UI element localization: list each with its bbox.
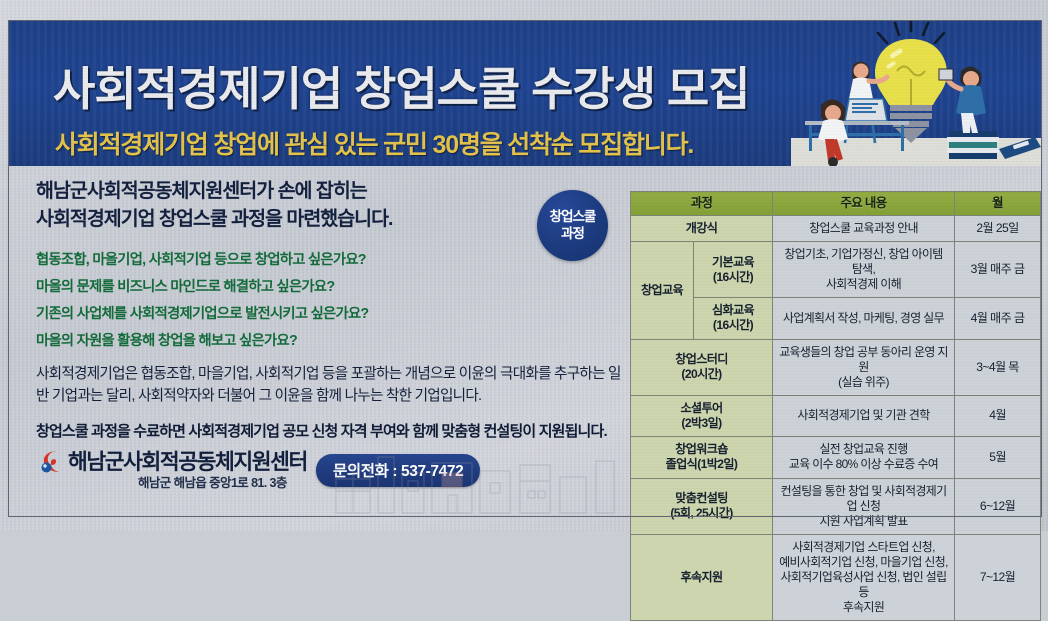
cell-month: 4월 매주 금: [955, 298, 1041, 339]
emphasis-text: 창업스쿨 과정을 수료하면 사회적경제기업 공모 신청 자격 부여와 함께 맞춤…: [36, 422, 626, 442]
cell-month: 3~4월 목: [955, 339, 1041, 395]
lightbulb-icon: [875, 39, 947, 143]
list-item: 마을의 자원을 활용해 창업을 해보고 싶은가요?: [36, 334, 626, 348]
col-header-course: 과정: [631, 192, 773, 216]
illustration-svg: [791, 21, 1041, 166]
person-on-books-icon: [939, 66, 986, 133]
cell-category: 개강식: [631, 216, 773, 242]
list-item: 기존의 사업체를 사회적경제기업으로 발전시키고 싶은가요?: [36, 307, 626, 321]
col-header-month: 월: [955, 192, 1041, 216]
table-body: 개강식창업스쿨 교육과정 안내2월 25일창업교육기본교육 (16시간)창업기초…: [631, 216, 1041, 621]
list-item: 마을의 문제를 비즈니스 마인드로 해결하고 싶은가요?: [36, 280, 626, 294]
organization-address: 해남군 해남읍 중앙1로 81. 3층: [138, 472, 287, 491]
book-stack-icon: [947, 131, 999, 159]
cell-description: 창업기초, 기업가정신, 창업 아이템 탐색, 사회적경제 이해: [773, 242, 955, 298]
question-list: 협동조합, 마을기업, 사회적기업 등으로 창업하고 싶은가요? 마을의 문제를…: [36, 253, 626, 348]
header-banner: 사회적경제기업 창업스쿨 수강생 모집 사회적경제기업 창업에 관심 있는 군민…: [9, 21, 1041, 166]
cell-description: 실전 창업교육 진행 교육 이수 80% 이상 수료증 수여: [773, 437, 955, 478]
poster-canvas: 사회적경제기업 창업스쿨 수강생 모집 사회적경제기업 창업에 관심 있는 군민…: [0, 0, 1048, 531]
lead-line-1: 해남군사회적공동체지원센터가 손에 잡히는: [36, 180, 367, 202]
table-header-row: 과정 주요 내용 월: [631, 192, 1041, 216]
cell-description: 사회적경제기업 및 기관 견학: [773, 395, 955, 436]
cell-description: 사업계획서 작성, 마케팅, 경영 실무: [773, 298, 955, 339]
cell-description: 창업스쿨 교육과정 안내: [773, 216, 955, 242]
cell-description: 교육생들의 창업 공부 동아리 운영 지원 (실습 위주): [773, 339, 955, 395]
cell-month: 6~12월: [955, 478, 1041, 534]
cell-subcategory: 기본교육 (16시간): [694, 242, 773, 298]
cell-subcategory: 심화교육 (16시간): [694, 298, 773, 339]
cell-category: 후속지원: [631, 534, 773, 620]
badge-line-1: 창업스쿨: [550, 209, 596, 225]
lead-line-2: 사회적경제기업 창업스쿨 과정을 마련했습니다.: [36, 208, 392, 230]
city-watermark-icon: [330, 453, 660, 515]
table-row: 창업워크숍 졸업식(1박2일)실전 창업교육 진행 교육 이수 80% 이상 수…: [631, 437, 1041, 478]
list-item: 협동조합, 마을기업, 사회적기업 등으로 창업하고 싶은가요?: [36, 253, 626, 267]
cell-month: 2월 25일: [955, 216, 1041, 242]
description-paragraph: 사회적경제기업은 협동조합, 마을기업, 사회적기업 등을 포괄하는 개념으로 …: [36, 364, 626, 408]
cell-description: 사회적경제기업 스타트업 신청, 예비사회적기업 신청, 마을기업 신청, 사회…: [773, 534, 955, 620]
page-subtitle: 사회적경제기업 창업에 관심 있는 군민 30명을 선착순 모집합니다.: [55, 125, 693, 161]
badge-line-2: 과정: [561, 226, 584, 242]
cell-category: 소셜투어 (2박3일): [631, 395, 773, 436]
table-row: 개강식창업스쿨 교육과정 안내2월 25일: [631, 216, 1041, 242]
course-badge: 창업스쿨 과정: [537, 190, 608, 261]
table-row: 소셜투어 (2박3일)사회적경제기업 및 기관 견학4월: [631, 395, 1041, 436]
cell-category: 창업교육: [631, 242, 694, 339]
laptop-icon: [841, 99, 891, 125]
organization-logo-icon: [38, 449, 64, 475]
curriculum-table-wrap: 과정 주요 내용 월 개강식창업스쿨 교육과정 안내2월 25일창업교육기본교육…: [630, 191, 1040, 621]
cell-category: 창업스터디 (20시간): [631, 339, 773, 395]
table-row: 창업교육기본교육 (16시간)창업기초, 기업가정신, 창업 아이템 탐색, 사…: [631, 242, 1041, 298]
cell-month: 4월: [955, 395, 1041, 436]
curriculum-table: 과정 주요 내용 월 개강식창업스쿨 교육과정 안내2월 25일창업교육기본교육…: [630, 191, 1041, 621]
page-title: 사회적경제기업 창업스쿨 수강생 모집: [53, 53, 749, 119]
cell-month: 5월: [955, 437, 1041, 478]
cell-month: 7~12월: [955, 534, 1041, 620]
table-row: 창업스터디 (20시간)교육생들의 창업 공부 동아리 운영 지원 (실습 위주…: [631, 339, 1041, 395]
cell-description: 컨설팅을 통한 창업 및 사회적경제기업 신청 지원 사업계획 발표: [773, 478, 955, 534]
col-header-content: 주요 내용: [773, 192, 955, 216]
cell-month: 3월 매주 금: [955, 242, 1041, 298]
header-illustration: [791, 21, 1041, 166]
table-row: 맞춤컨설팅 (5회, 25시간)컨설팅을 통한 창업 및 사회적경제기업 신청 …: [631, 478, 1041, 534]
table-row: 후속지원사회적경제기업 스타트업 신청, 예비사회적기업 신청, 마을기업 신청…: [631, 534, 1041, 620]
